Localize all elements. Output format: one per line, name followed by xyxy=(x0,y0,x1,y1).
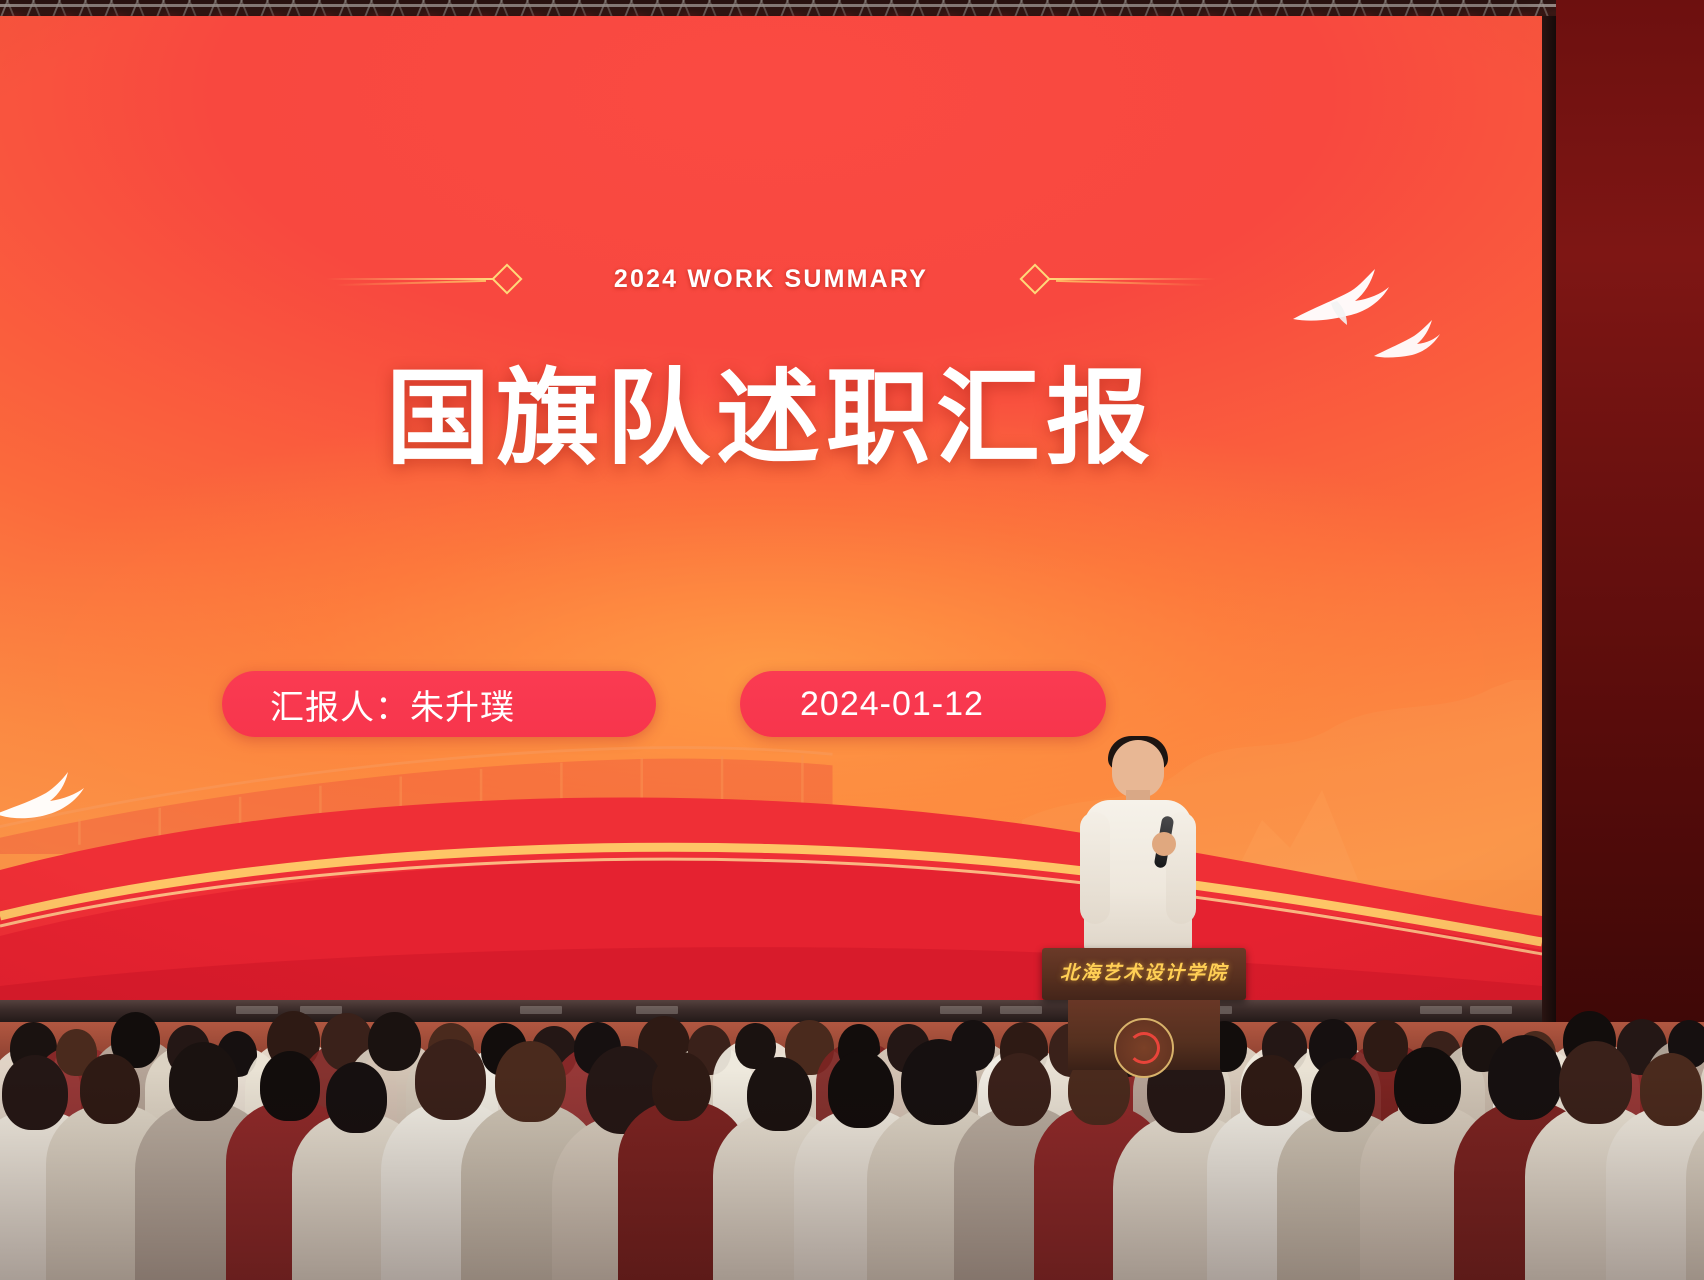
presentation-slide: 2024 WORK SUMMARY 国旗队述职汇报 汇报人：朱升璞 2024-0… xyxy=(0,16,1542,1000)
photo-scene: 2024 WORK SUMMARY 国旗队述职汇报 汇报人：朱升璞 2024-0… xyxy=(0,0,1704,1280)
speaker-hand xyxy=(1152,832,1176,856)
audience-head xyxy=(495,1041,566,1122)
audience-head xyxy=(652,1052,711,1121)
speaker-figure xyxy=(1078,740,1198,952)
audience-head xyxy=(169,1042,238,1121)
audience-head xyxy=(1311,1058,1374,1131)
podium-institution-name: 北海艺术设计学院 xyxy=(1042,958,1246,985)
audience-head xyxy=(747,1057,812,1132)
audience-head xyxy=(260,1051,321,1122)
audience-head xyxy=(1241,1055,1303,1127)
wall-right-of-screen xyxy=(1556,0,1704,1022)
school-emblem-icon xyxy=(1114,1018,1174,1078)
audience-head xyxy=(80,1054,140,1124)
audience-head xyxy=(1640,1053,1703,1126)
screen-right-edge xyxy=(1542,16,1556,1022)
audience-head xyxy=(1488,1035,1563,1120)
slide-vignette xyxy=(0,16,1542,1000)
audience-head xyxy=(1559,1041,1633,1125)
audience-head xyxy=(1394,1047,1461,1124)
led-stage-screen: 2024 WORK SUMMARY 国旗队述职汇报 汇报人：朱升璞 2024-0… xyxy=(0,16,1542,1000)
audience-head xyxy=(2,1055,68,1131)
audience-head xyxy=(326,1062,387,1133)
audience-head xyxy=(368,1012,421,1071)
audience-head xyxy=(415,1039,486,1120)
audience-head xyxy=(828,1051,894,1127)
audience-head xyxy=(901,1039,977,1125)
speaker-left-arm xyxy=(1080,812,1110,924)
podium: 北海艺术设计学院 xyxy=(1042,948,1246,1070)
audience xyxy=(0,980,1704,1280)
